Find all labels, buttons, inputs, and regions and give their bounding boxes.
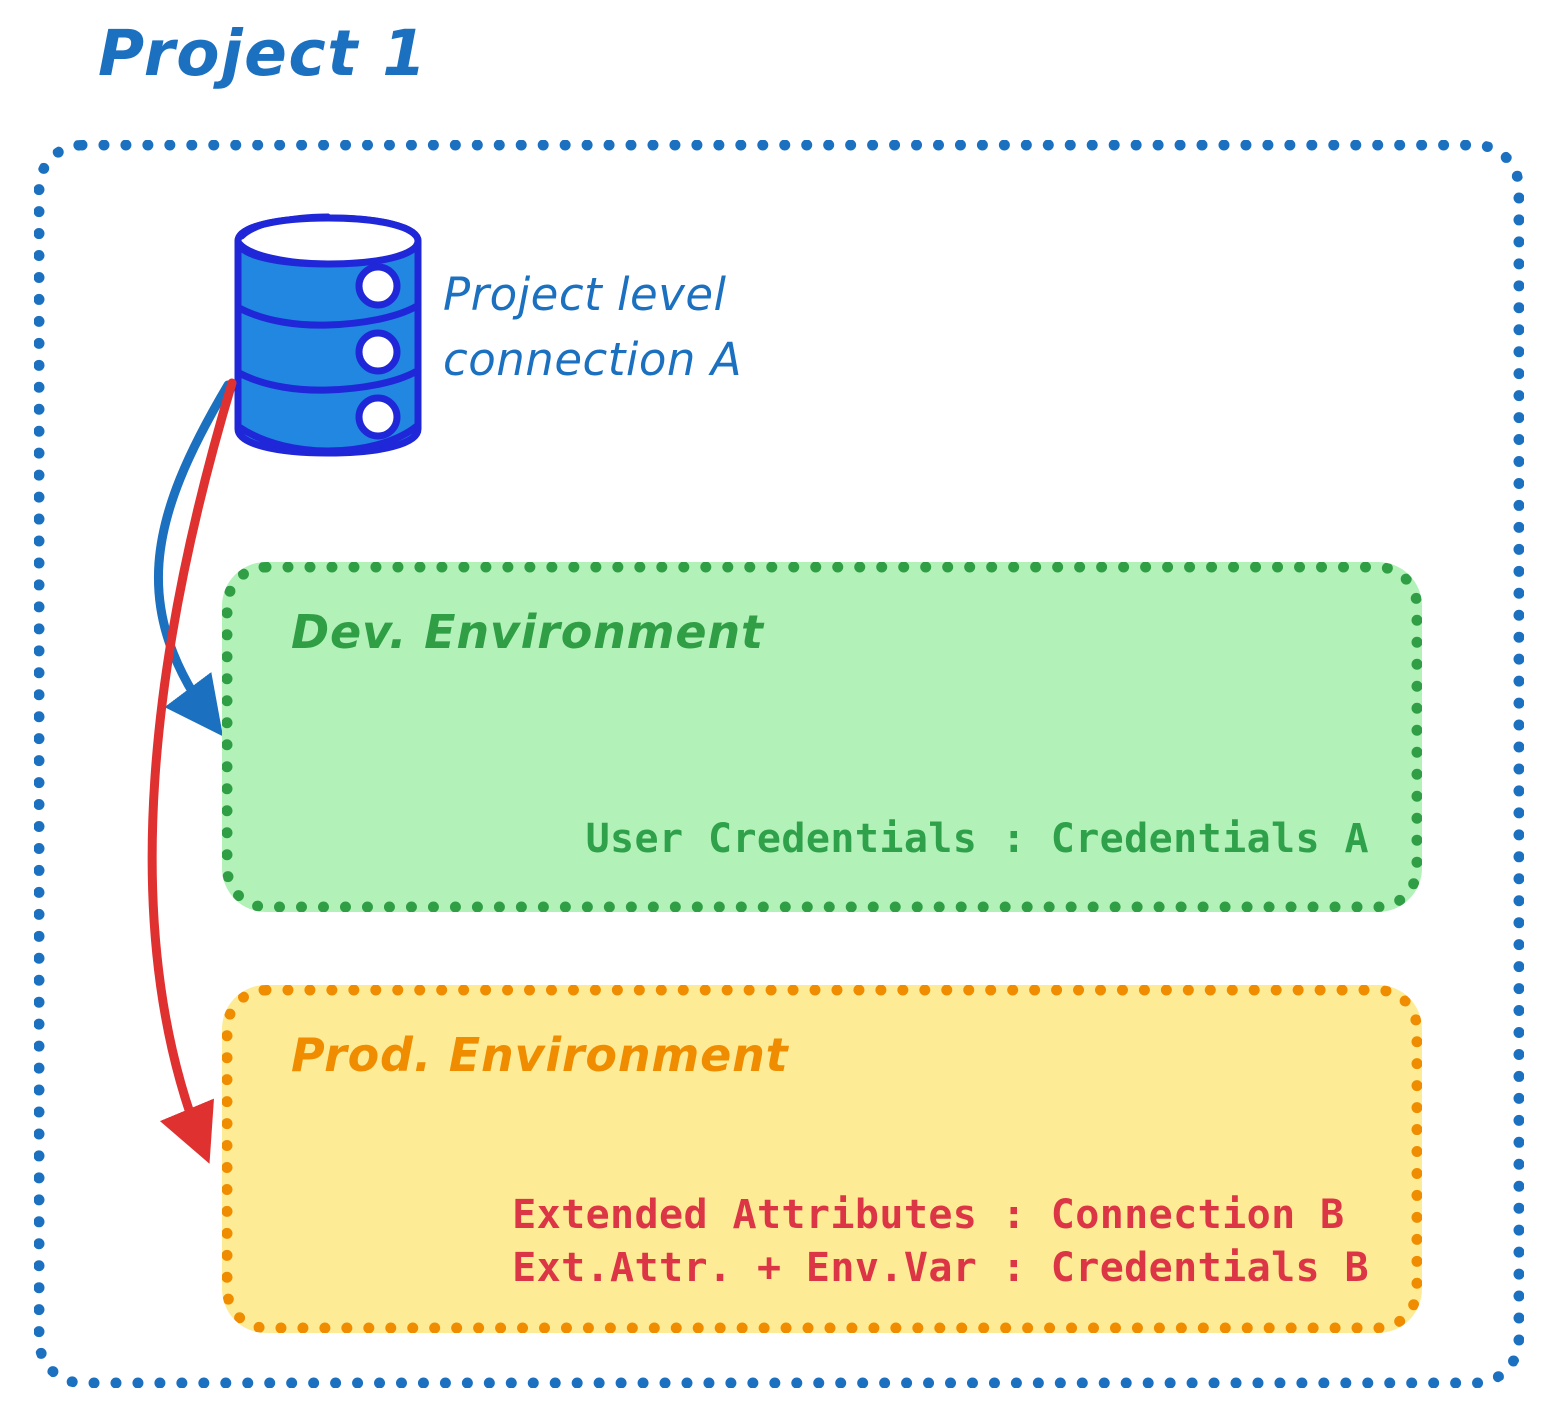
dev-credentials-row: User Credentials : Credentials A [586, 813, 1369, 867]
diagram-canvas: Project 1 [0, 0, 1553, 1415]
dev-environment-panel: Dev. Environment User Credentials : Cred… [222, 562, 1422, 912]
prod-env-var-row: Ext.Attr. + Env.Var : Credentials B [512, 1242, 1369, 1296]
prod-extended-attributes-row: Extended Attributes : Connection B [512, 1189, 1369, 1243]
page-title: Project 1 [98, 17, 428, 90]
prod-environment-title: Prod. Environment [291, 1028, 788, 1082]
database-label-line1: Project level [443, 262, 863, 327]
database-cylinder-icon [228, 213, 428, 458]
dev-environment-attributes: User Credentials : Credentials A [586, 813, 1369, 867]
prod-environment-panel: Prod. Environment Extended Attributes : … [222, 985, 1422, 1333]
prod-environment-attributes: Extended Attributes : Connection B Ext.A… [512, 1189, 1369, 1296]
database-label-line2: connection A [443, 327, 863, 392]
dev-environment-title: Dev. Environment [291, 605, 764, 659]
database-label: Project level connection A [443, 262, 863, 393]
